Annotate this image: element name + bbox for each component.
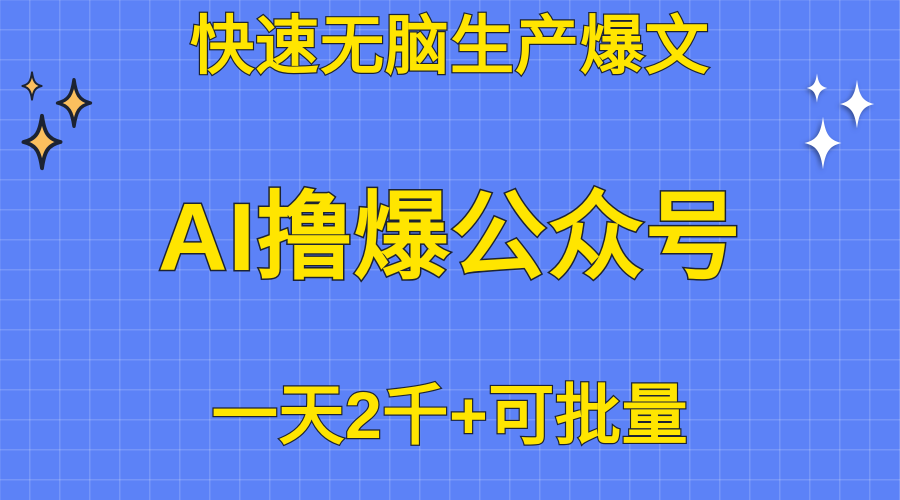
sparkle-icon xyxy=(802,116,844,170)
headline-main: AI撸爆公众号 xyxy=(0,190,900,286)
sparkle-icon xyxy=(22,115,62,169)
headline-bottom: 一天2千+可批量 xyxy=(0,382,900,448)
promo-poster: 快速无脑生产爆文 AI撸爆公众号 一天2千+可批量 xyxy=(0,0,900,500)
headline-top: 快速无脑生产爆文 xyxy=(0,14,900,78)
